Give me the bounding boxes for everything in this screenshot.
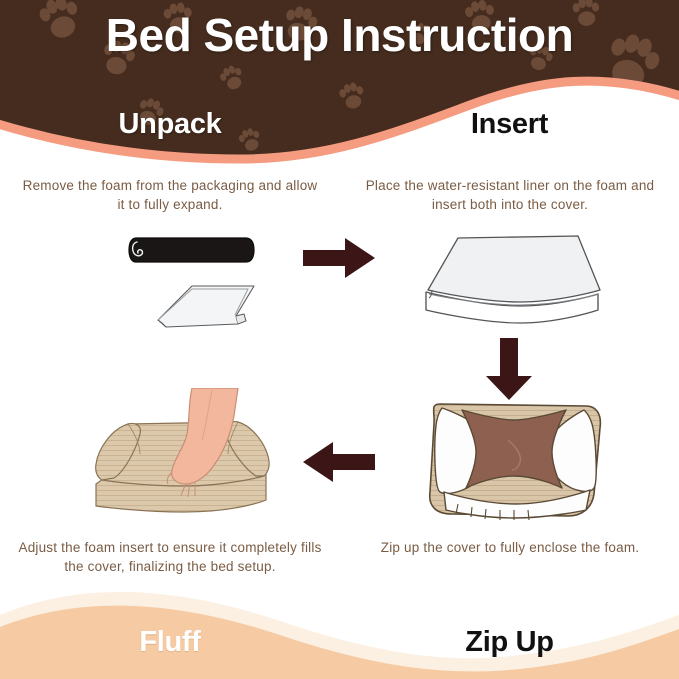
step-description-zipup: Zip up the cover to fully enclose the fo… <box>358 538 662 557</box>
step-label-fluff: Fluff <box>0 626 340 659</box>
step-label-unpack: Unpack <box>0 108 340 141</box>
step-label-zipup: Zip Up <box>340 626 679 659</box>
illustration-rolled-foam-and-liner <box>96 228 296 338</box>
arrow-right-icon <box>303 236 375 280</box>
footer-wave-banner <box>0 569 679 679</box>
arrow-left-icon <box>303 440 375 484</box>
step-label-insert: Insert <box>340 108 679 141</box>
illustration-hand-pressing-bed <box>88 388 324 530</box>
illustration-foam-with-liner-sheet <box>420 228 610 338</box>
water-resistant-liner-icon <box>428 236 600 305</box>
arrow-down-icon <box>482 338 536 400</box>
step-description-unpack: Remove the foam from the packaging and a… <box>18 176 322 214</box>
liner-sheet-icon <box>158 286 254 327</box>
rolled-foam-icon <box>129 238 254 262</box>
page-title: Bed Setup Instruction <box>0 8 679 62</box>
illustration-zipping-bed-cover <box>400 388 626 528</box>
bed-setup-infographic: Bed Setup Instruction Unpack Insert Remo… <box>0 0 679 679</box>
inner-cushion-icon <box>462 410 566 488</box>
step-description-insert: Place the water-resistant liner on the f… <box>358 176 662 214</box>
